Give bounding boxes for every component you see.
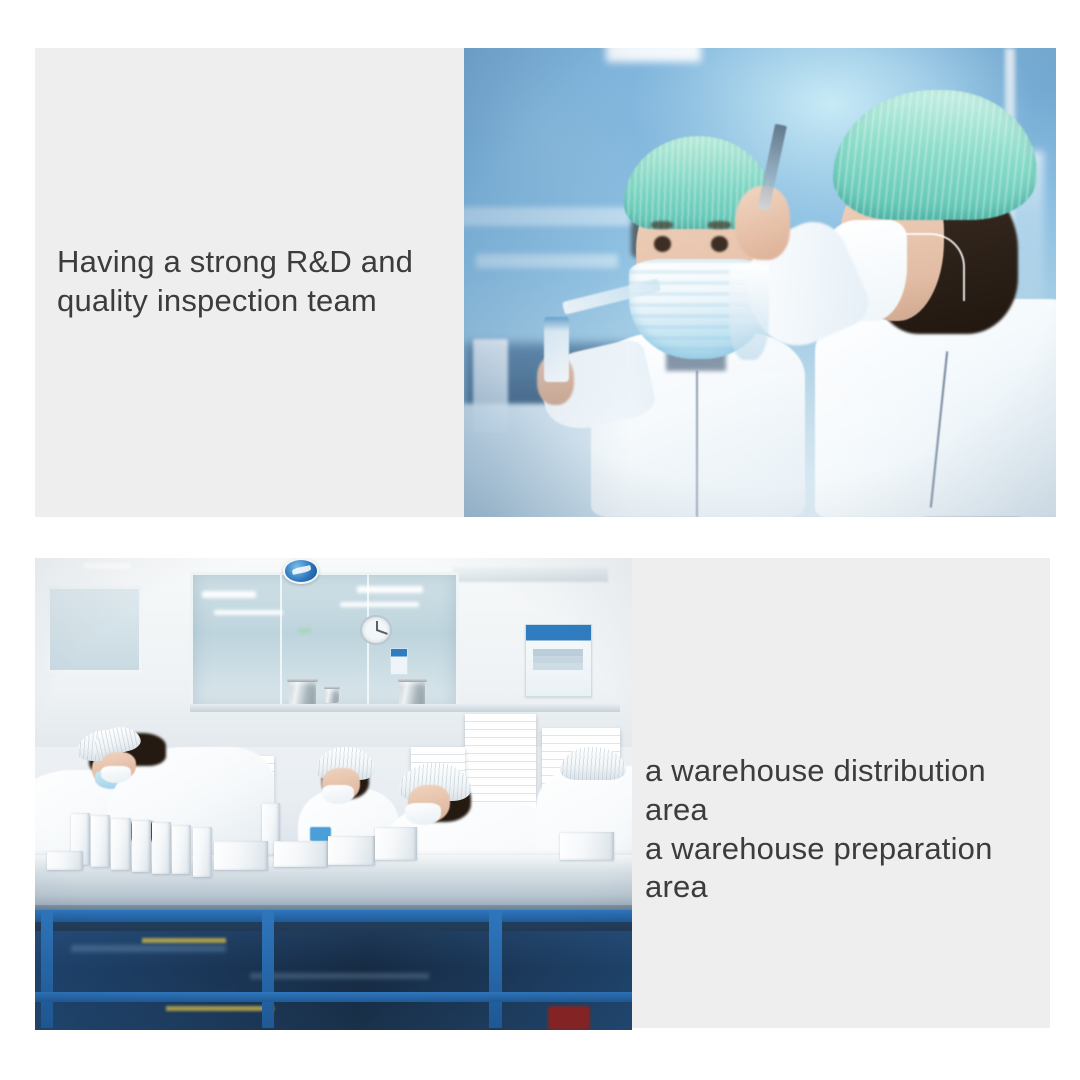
table-frame-rail-top xyxy=(35,910,632,922)
caption-warehouse: a warehouse distribution area a warehous… xyxy=(645,752,1045,907)
carton-2 xyxy=(91,815,110,867)
carton-flat-5 xyxy=(47,851,83,870)
floor-yellow-marking-2 xyxy=(166,1006,273,1011)
window-ceiling-light-2 xyxy=(340,602,419,607)
carton-flat-1 xyxy=(214,841,268,869)
window-mullion-1 xyxy=(280,575,282,707)
warehouse-ceiling-duct xyxy=(453,567,608,581)
warehouse-ceiling-light-a xyxy=(202,591,256,598)
warehouse-packing-photo xyxy=(35,558,632,1030)
worker-right-face-mask xyxy=(405,803,441,825)
floor-streak-2 xyxy=(250,973,429,979)
carton-4 xyxy=(132,820,151,872)
floor-streak-1 xyxy=(71,945,226,952)
carton-flat-3 xyxy=(328,836,376,864)
table-frame-leg-3 xyxy=(489,910,502,1028)
warehouse-round-sign-icon xyxy=(283,558,319,584)
lab-qc-inspection-photo xyxy=(464,48,1056,517)
warehouse-ceiling-light-b xyxy=(357,586,423,593)
table-frame-leg-2 xyxy=(262,910,274,1028)
warehouse-canister-3 xyxy=(325,688,339,703)
carton-7 xyxy=(193,827,212,877)
carton-6 xyxy=(172,825,191,875)
window-green-indicator xyxy=(298,628,311,633)
warehouse-wall-clock-icon xyxy=(360,615,391,645)
floor-yellow-marking-1 xyxy=(142,938,226,943)
warehouse-ceiling-light-c xyxy=(83,563,131,569)
worker-red-shoe xyxy=(548,1006,590,1030)
warehouse-small-notice xyxy=(390,648,408,675)
warehouse-counter-rail xyxy=(190,704,620,712)
warehouse-notice-board xyxy=(525,624,593,697)
carton-flat-6 xyxy=(560,832,614,860)
carton-5 xyxy=(152,822,171,874)
warehouse-side-window xyxy=(47,586,143,672)
carton-flat-4 xyxy=(375,827,417,860)
worker-bending-face-mask xyxy=(101,766,131,783)
carton-flat-2 xyxy=(274,841,328,867)
table-frame-leg-1 xyxy=(41,910,53,1028)
carton-3 xyxy=(111,818,130,870)
window-ceiling-light-1 xyxy=(214,610,282,615)
table-frame-rail-bottom xyxy=(35,992,632,1001)
caption-rd-quality: Having a strong R&D and quality inspecti… xyxy=(57,243,457,321)
banner-page: Having a strong R&D and quality inspecti… xyxy=(0,0,1080,1080)
lab-light-haze xyxy=(464,48,1056,517)
clock-hand-minute xyxy=(376,629,387,635)
